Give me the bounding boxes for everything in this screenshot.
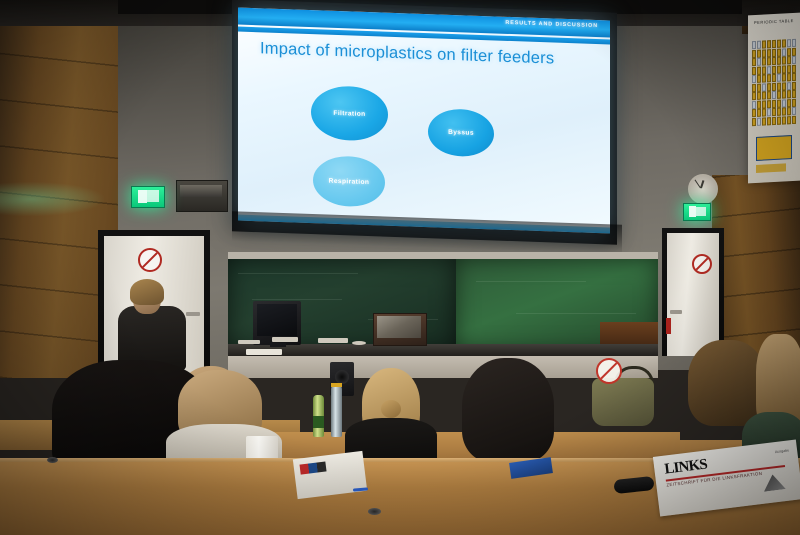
- lecture-hall-photo: PERIODIC TABLE RESULTS AND DISCUSSION Im…: [0, 0, 800, 535]
- door-handle-right[interactable]: [670, 310, 682, 314]
- bench-item-sheet: [246, 349, 282, 355]
- slide-header-text: RESULTS AND DISCUSSION: [505, 20, 598, 29]
- slide-bubble-respiration: Respiration: [313, 155, 385, 208]
- handout-logo: [300, 461, 327, 474]
- lab-bench-top: [228, 344, 658, 356]
- bench-item-paper: [318, 338, 348, 343]
- bench-item-tool: [238, 340, 260, 344]
- no-smoking-sign-post: [596, 358, 622, 384]
- poster-footer: [756, 163, 786, 173]
- links-newspaper-photo: [762, 473, 786, 492]
- slide-bubble-filtration: Filtration: [311, 85, 388, 142]
- exit-light-reflection: [0, 182, 104, 216]
- emergency-exit-sign-left: [131, 186, 165, 208]
- audience-member-dark-hair-center: [462, 358, 554, 462]
- no-smoking-icon-right: [692, 254, 712, 274]
- poster-title: PERIODIC TABLE: [754, 18, 794, 25]
- bottle-label-green: [313, 416, 324, 428]
- emergency-exit-sign-right: [683, 203, 711, 221]
- water-bottle-clear: [331, 385, 342, 437]
- slide-bubble-byssus: Byssus: [428, 108, 494, 157]
- board-top-rail: [228, 252, 658, 259]
- links-newspaper-date: Ausgabe: [775, 448, 790, 454]
- monitor-stand: [270, 343, 286, 347]
- periodic-table-poster: PERIODIC TABLE: [748, 13, 800, 184]
- poster-lanthanide-box: [756, 135, 792, 161]
- printed-handout[interactable]: [293, 451, 367, 499]
- bench-item-bulb: [352, 341, 366, 345]
- hair-bun: [381, 400, 401, 418]
- wall-control-panel: [180, 185, 222, 197]
- monitor-screen: [257, 304, 297, 336]
- desk-cable-grommet: [368, 508, 381, 515]
- presenter-hair: [130, 279, 164, 305]
- slide-title: Impact of microplastics on filter feeder…: [260, 39, 600, 70]
- desk-cable-grommet-left: [47, 457, 58, 463]
- lecture-hall-door-right[interactable]: [667, 233, 719, 356]
- audience-member-brown-hair-right: [688, 340, 766, 426]
- shoulder-bag: [592, 378, 654, 426]
- loudspeaker-cone: [335, 370, 349, 384]
- fire-extinguisher: [666, 318, 671, 334]
- presentation-slide: RESULTS AND DISCUSSION Impact of micropl…: [238, 8, 610, 234]
- wall-clock: [688, 174, 718, 204]
- demonstration-box-contents: [377, 316, 421, 338]
- bottle-cap: [331, 383, 342, 387]
- no-smoking-icon-left: [138, 248, 162, 272]
- bench-item-cable: [272, 337, 298, 342]
- door-handle-left[interactable]: [186, 312, 200, 316]
- poster-element-grid: [752, 39, 796, 133]
